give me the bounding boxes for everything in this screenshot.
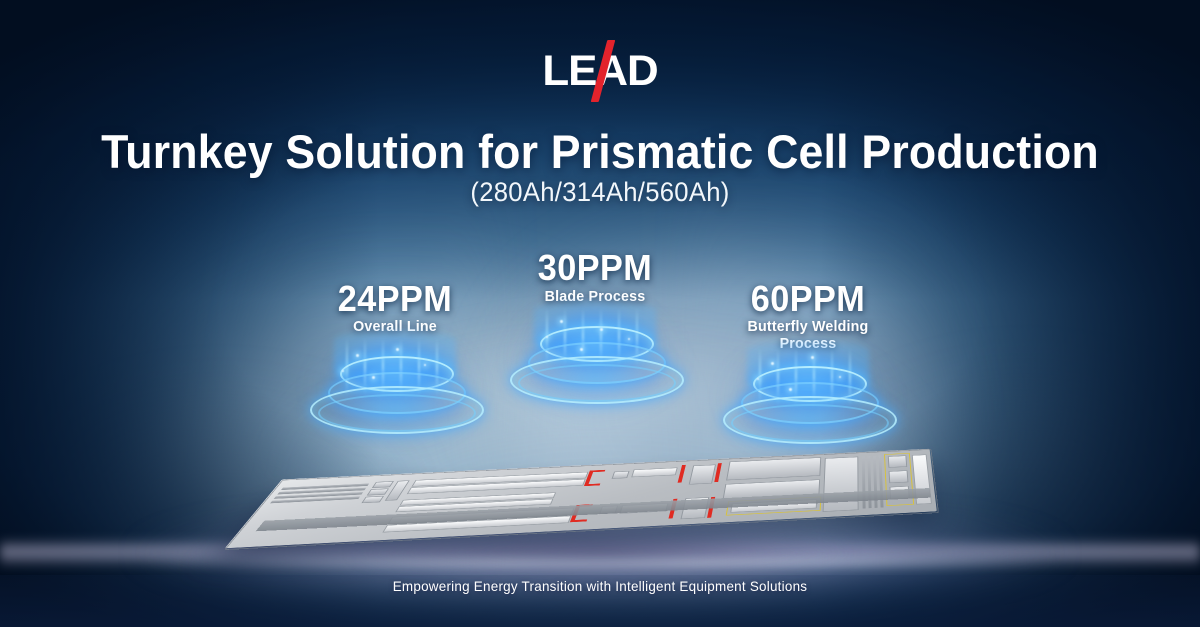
footer-tagline: Empowering Energy Transition with Intell…: [24, 578, 1176, 594]
pedestal-ring-outer-1: [510, 356, 684, 404]
metric-value-2: 60PPM: [705, 278, 910, 320]
brand-logo: LEAD: [0, 44, 1200, 98]
page-subtitle: (280Ah/314Ah/560Ah): [30, 177, 1170, 208]
holographic-pedestal-0: [300, 328, 490, 438]
production-line-render: [262, 443, 942, 565]
pedestal-ring-outer-0: [310, 386, 484, 434]
holographic-pedestal-1: [500, 298, 690, 408]
page-title: Turnkey Solution for Prismatic Cell Prod…: [30, 124, 1170, 179]
marketing-banner: LEAD Turnkey Solution for Prismatic Cell…: [0, 0, 1200, 627]
pedestal-ring-outer-2: [723, 396, 897, 444]
holographic-pedestal-2: [713, 338, 903, 448]
metric-value-0: 24PPM: [292, 278, 497, 320]
metric-value-1: 30PPM: [492, 247, 697, 289]
